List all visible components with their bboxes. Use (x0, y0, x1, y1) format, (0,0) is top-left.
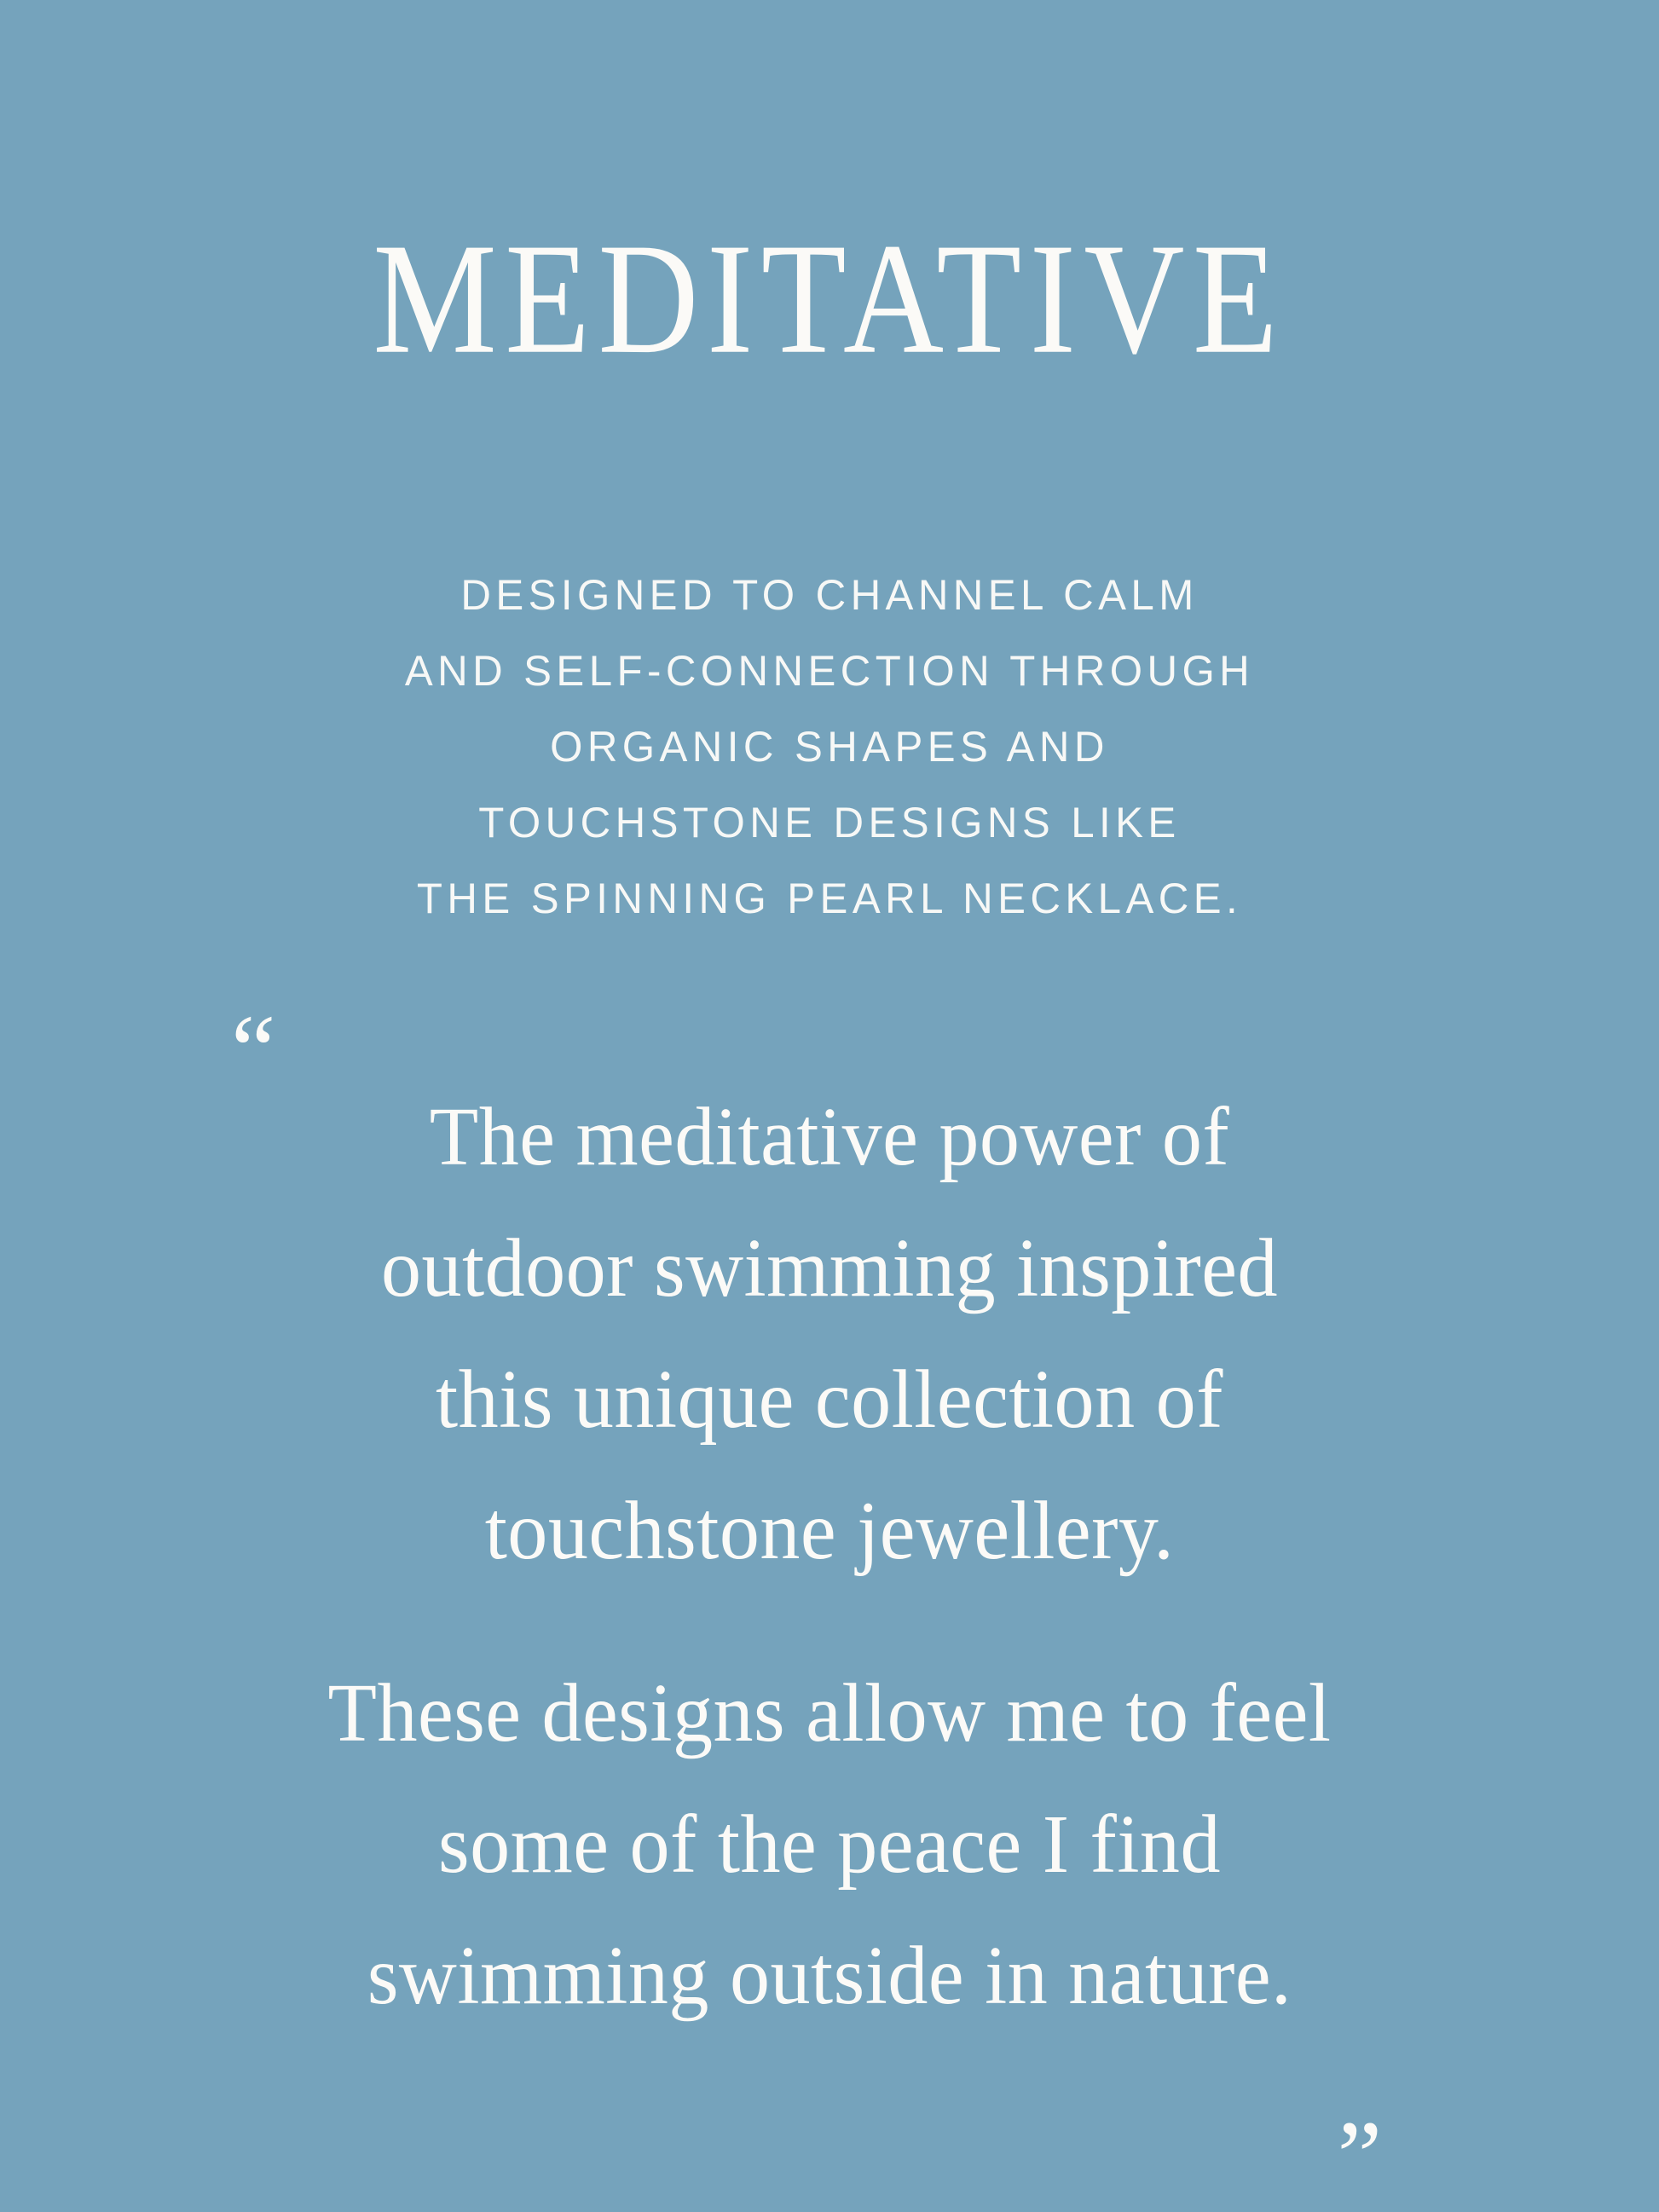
subheading-line-5: THE SPINNING PEARL NECKLACE. (175, 861, 1485, 937)
subheading-block: DESIGNED TO CHANNEL CALM AND SELF-CONNEC… (165, 557, 1494, 937)
quote-p1-line-4: touchstone jewellery. (318, 1465, 1341, 1597)
quote-p2-line-1: These designs allow me to feel (318, 1648, 1341, 1779)
pull-quote: “ The meditative power of outdoor swimmi… (224, 1015, 1435, 2125)
quote-p2-line-2: some of the peace I find (318, 1779, 1341, 1910)
quote-paragraph-1: The meditative power of outdoor swimming… (318, 1071, 1341, 1597)
quote-p1-line-2: outdoor swimming inspired (318, 1203, 1341, 1334)
opening-quote-mark-icon: “ (231, 1000, 275, 1100)
quote-p2-line-3: swimming outside in nature. (318, 1910, 1341, 2042)
quote-paragraph-2: These designs allow me to feel some of t… (318, 1648, 1341, 2042)
quote-p1-line-1: The meditative power of (318, 1071, 1341, 1203)
subheading-line-4: TOUCHSTONE DESIGNS LIKE (175, 785, 1485, 861)
quote-text: The meditative power of outdoor swimming… (297, 1071, 1362, 2042)
closing-quote-mark-icon: ” (1338, 2106, 1382, 2207)
subheading-line-3: ORGANIC SHAPES AND (175, 709, 1485, 785)
quote-p1-line-3: this unique collection of (318, 1334, 1341, 1465)
subheading-line-1: DESIGNED TO CHANNEL CALM (175, 557, 1485, 633)
meditative-poster: MEDITATIVE DESIGNED TO CHANNEL CALM AND … (0, 0, 1659, 1990)
subheading-line-2: AND SELF-CONNECTION THROUGH (175, 633, 1485, 709)
page-title: MEDITATIVE (373, 220, 1286, 379)
